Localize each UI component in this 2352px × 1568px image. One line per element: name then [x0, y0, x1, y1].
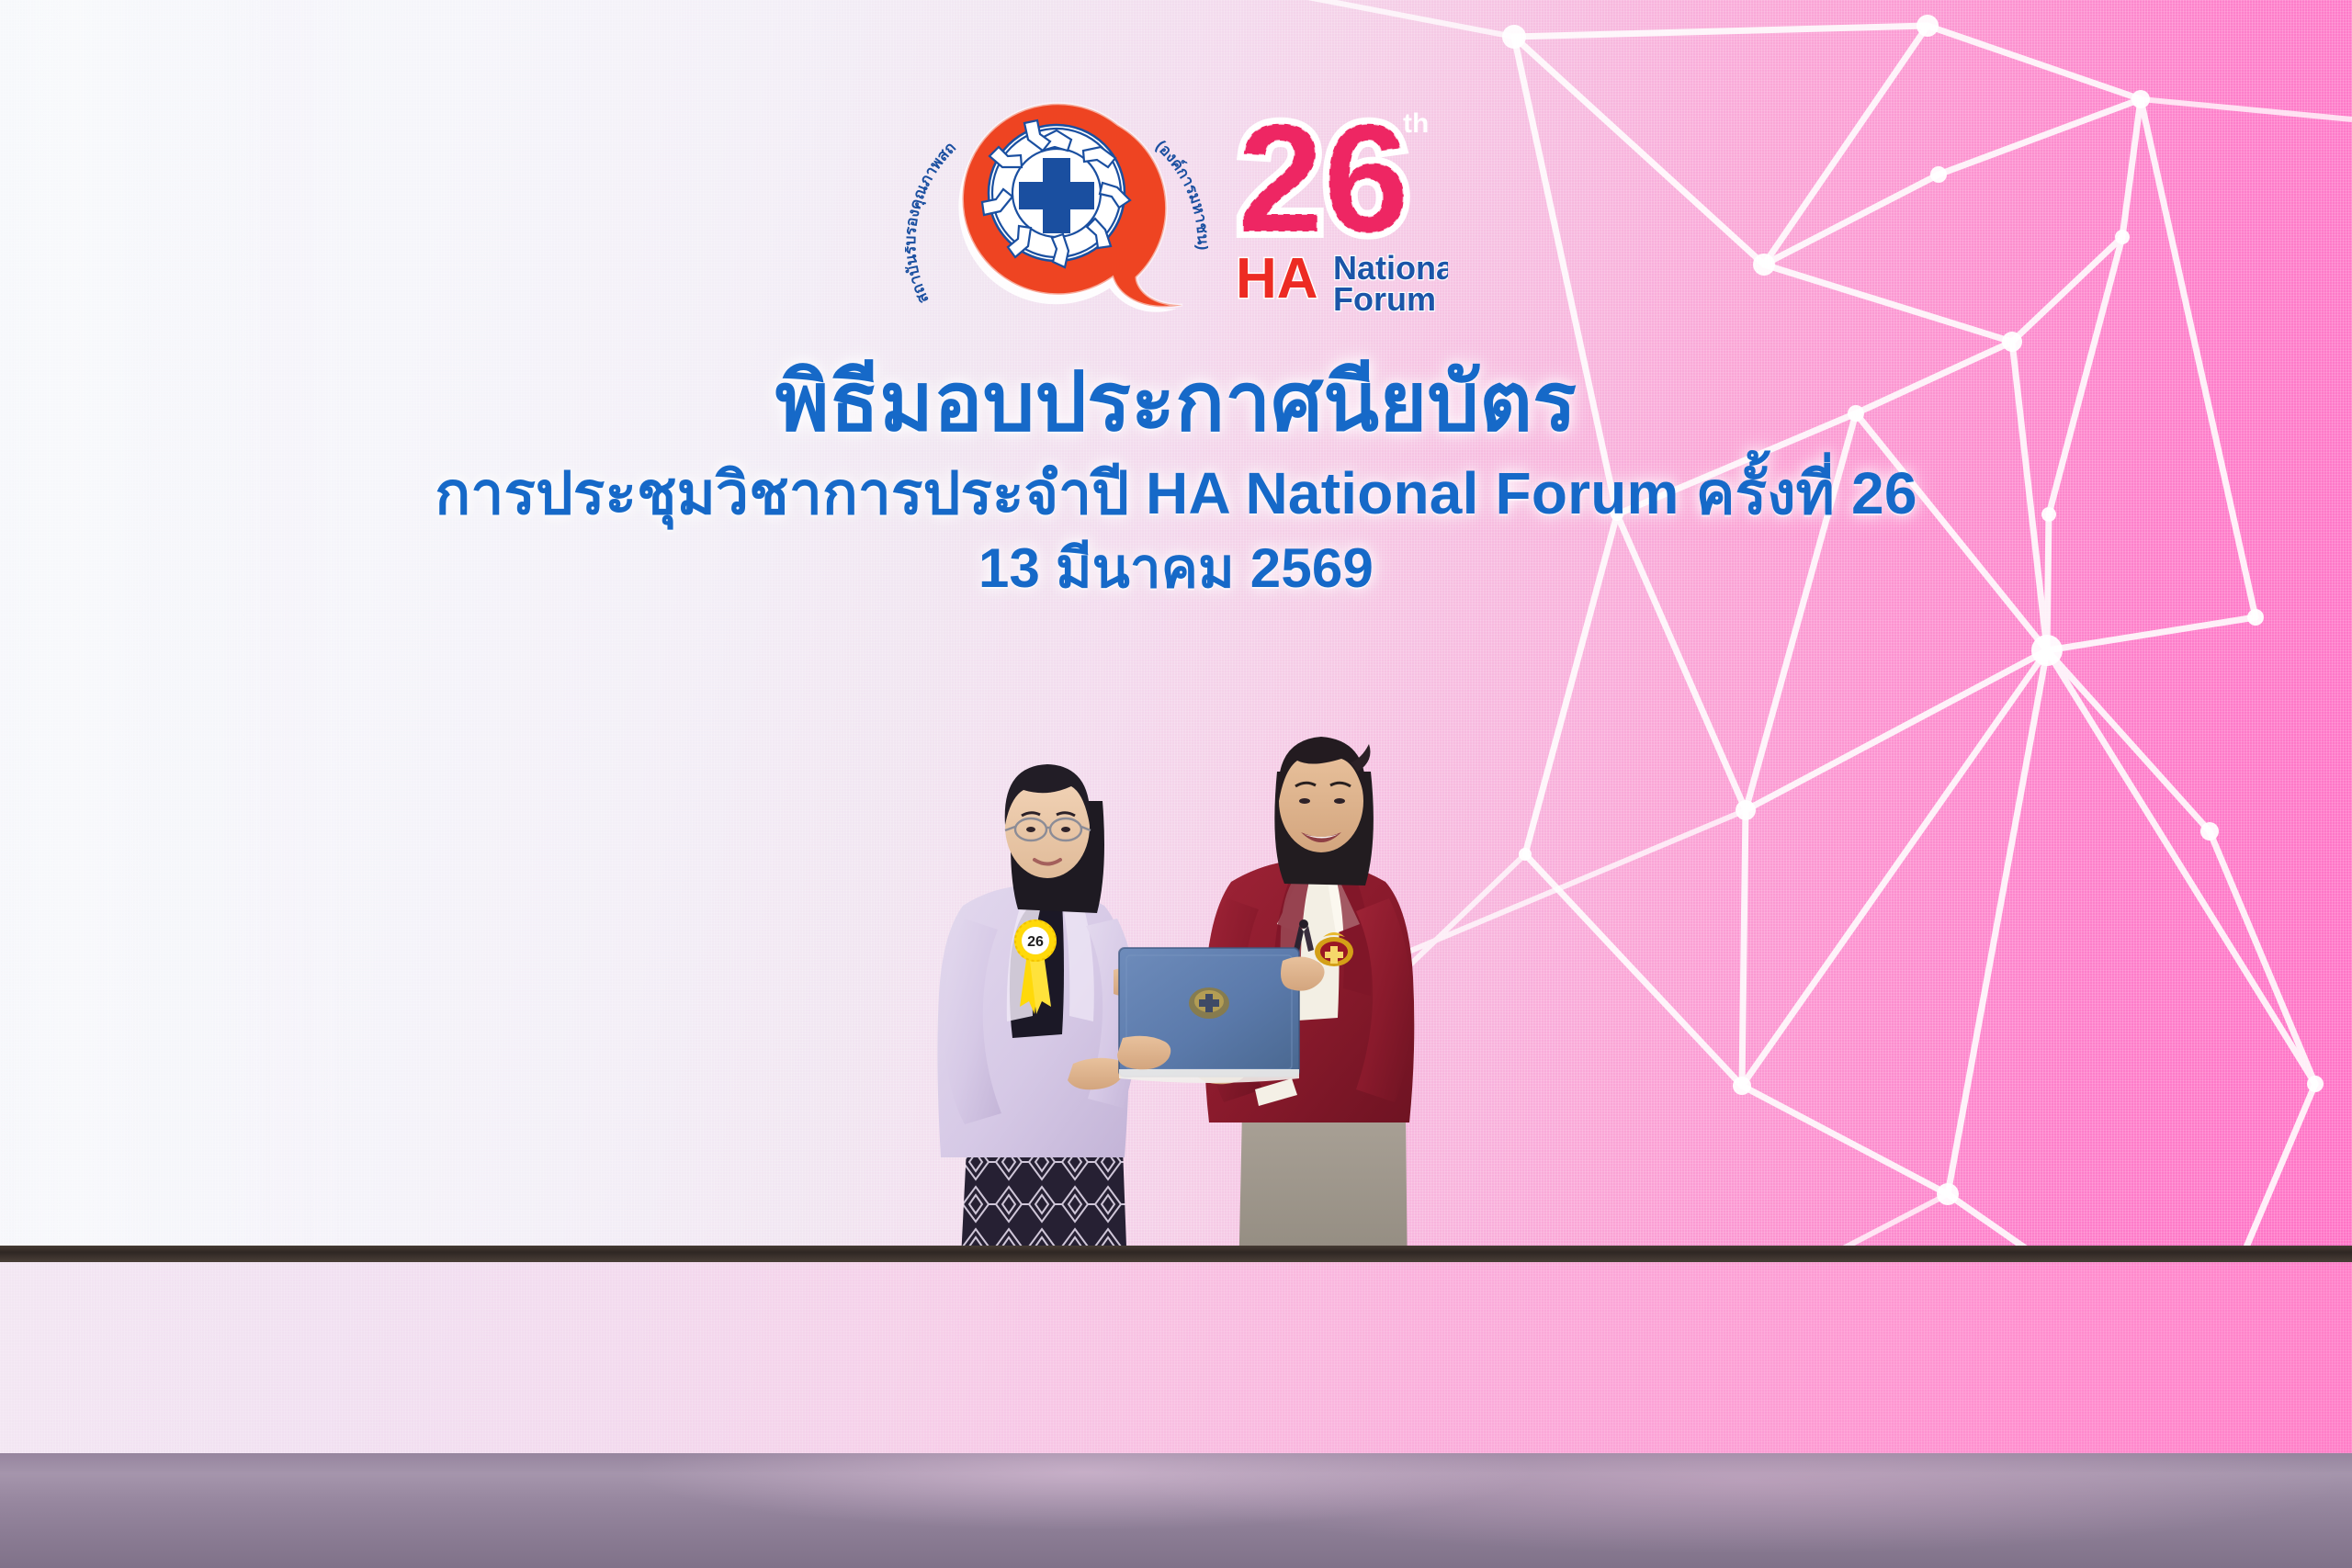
stage-floor [0, 1453, 2352, 1568]
recipient-badge-number: 26 [1027, 934, 1044, 950]
led-skirt-panel [0, 1262, 2352, 1461]
lower-led-pixel-grid [0, 1262, 2352, 1461]
certificate-folder-crest [1189, 987, 1229, 1019]
stage-fascia-band [0, 1246, 2352, 1262]
screenshot-root: สถาบันรับรองคุณภาพสถานพยาบาล (องค์การมหา… [0, 0, 2352, 1568]
